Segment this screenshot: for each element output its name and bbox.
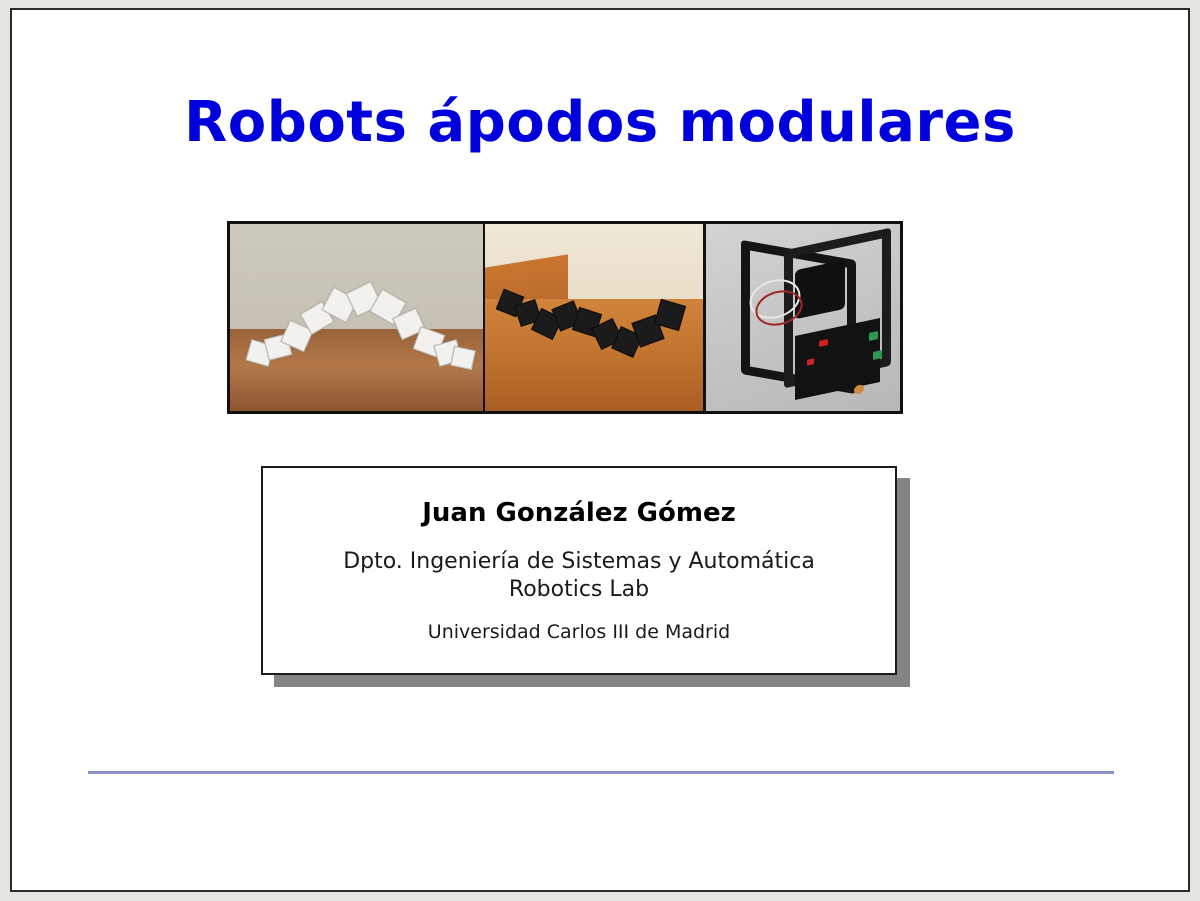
author-department-line1: Dpto. Ingeniería de Sistemas y Automátic… <box>343 549 815 574</box>
footer-divider <box>88 771 1114 774</box>
slide-footer: Juan González-Gómez jggomez@ing.uc3m.es … <box>12 782 1188 892</box>
photo-black-modular-snake-robot <box>483 224 703 411</box>
author-name: Juan González Gómez <box>422 498 735 528</box>
presentation-slide: Robots ápodos modulares <box>10 8 1190 892</box>
robot-photo-strip <box>227 221 903 414</box>
photo-robot-module-closeup <box>703 224 900 411</box>
photo-white-modular-snake-robot <box>230 224 483 411</box>
page-title: Robots ápodos modulares <box>12 94 1188 153</box>
author-info-box: Juan González Gómez Dpto. Ingeniería de … <box>261 466 897 675</box>
slide-canvas: Robots ápodos modulares <box>0 0 1200 901</box>
author-department: Dpto. Ingeniería de Sistemas y Automátic… <box>343 548 815 603</box>
author-university: Universidad Carlos III de Madrid <box>428 621 730 643</box>
author-department-line2: Robotics Lab <box>509 577 649 602</box>
